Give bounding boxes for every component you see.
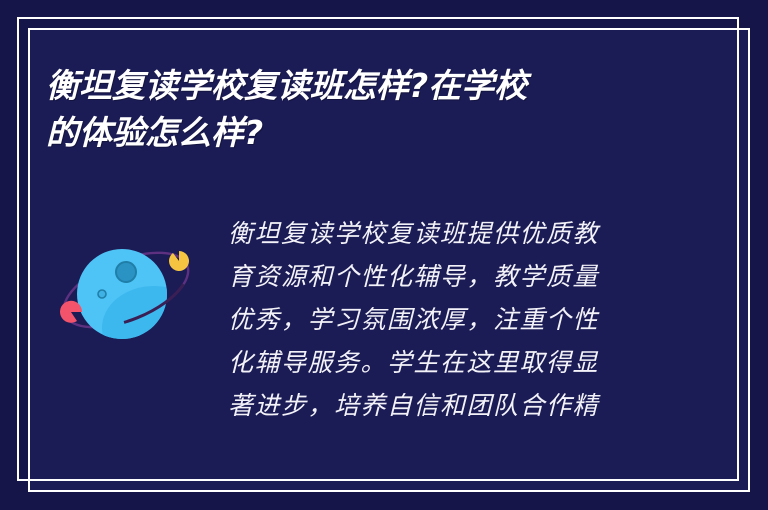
body-line-5: 著进步，培养自信和团队合作精 — [228, 384, 658, 427]
planet-crater-large — [116, 262, 136, 282]
title-line-2: 的体验怎么样? — [46, 109, 726, 156]
body-line-2: 育资源和个性化辅导，教学质量 — [228, 255, 658, 298]
body-line-4: 化辅导服务。学生在这里取得显 — [228, 341, 658, 384]
body-line-1: 衡坦复读学校复读班提供优质教 — [228, 212, 658, 255]
satellite-yellow — [169, 251, 189, 271]
satellite-pink — [60, 301, 82, 323]
planet-illustration — [58, 232, 198, 360]
article-cover: 衡坦复读学校复读班怎样?在学校 的体验怎么样? — [0, 0, 768, 510]
planet-crater-small — [98, 290, 106, 298]
page-title: 衡坦复读学校复读班怎样?在学校 的体验怎么样? — [46, 62, 726, 156]
title-line-1: 衡坦复读学校复读班怎样?在学校 — [46, 62, 726, 109]
body-line-3: 优秀，学习氛围浓厚，注重个性 — [228, 298, 658, 341]
body-paragraph: 衡坦复读学校复读班提供优质教 育资源和个性化辅导，教学质量 优秀，学习氛围浓厚，… — [228, 212, 658, 427]
